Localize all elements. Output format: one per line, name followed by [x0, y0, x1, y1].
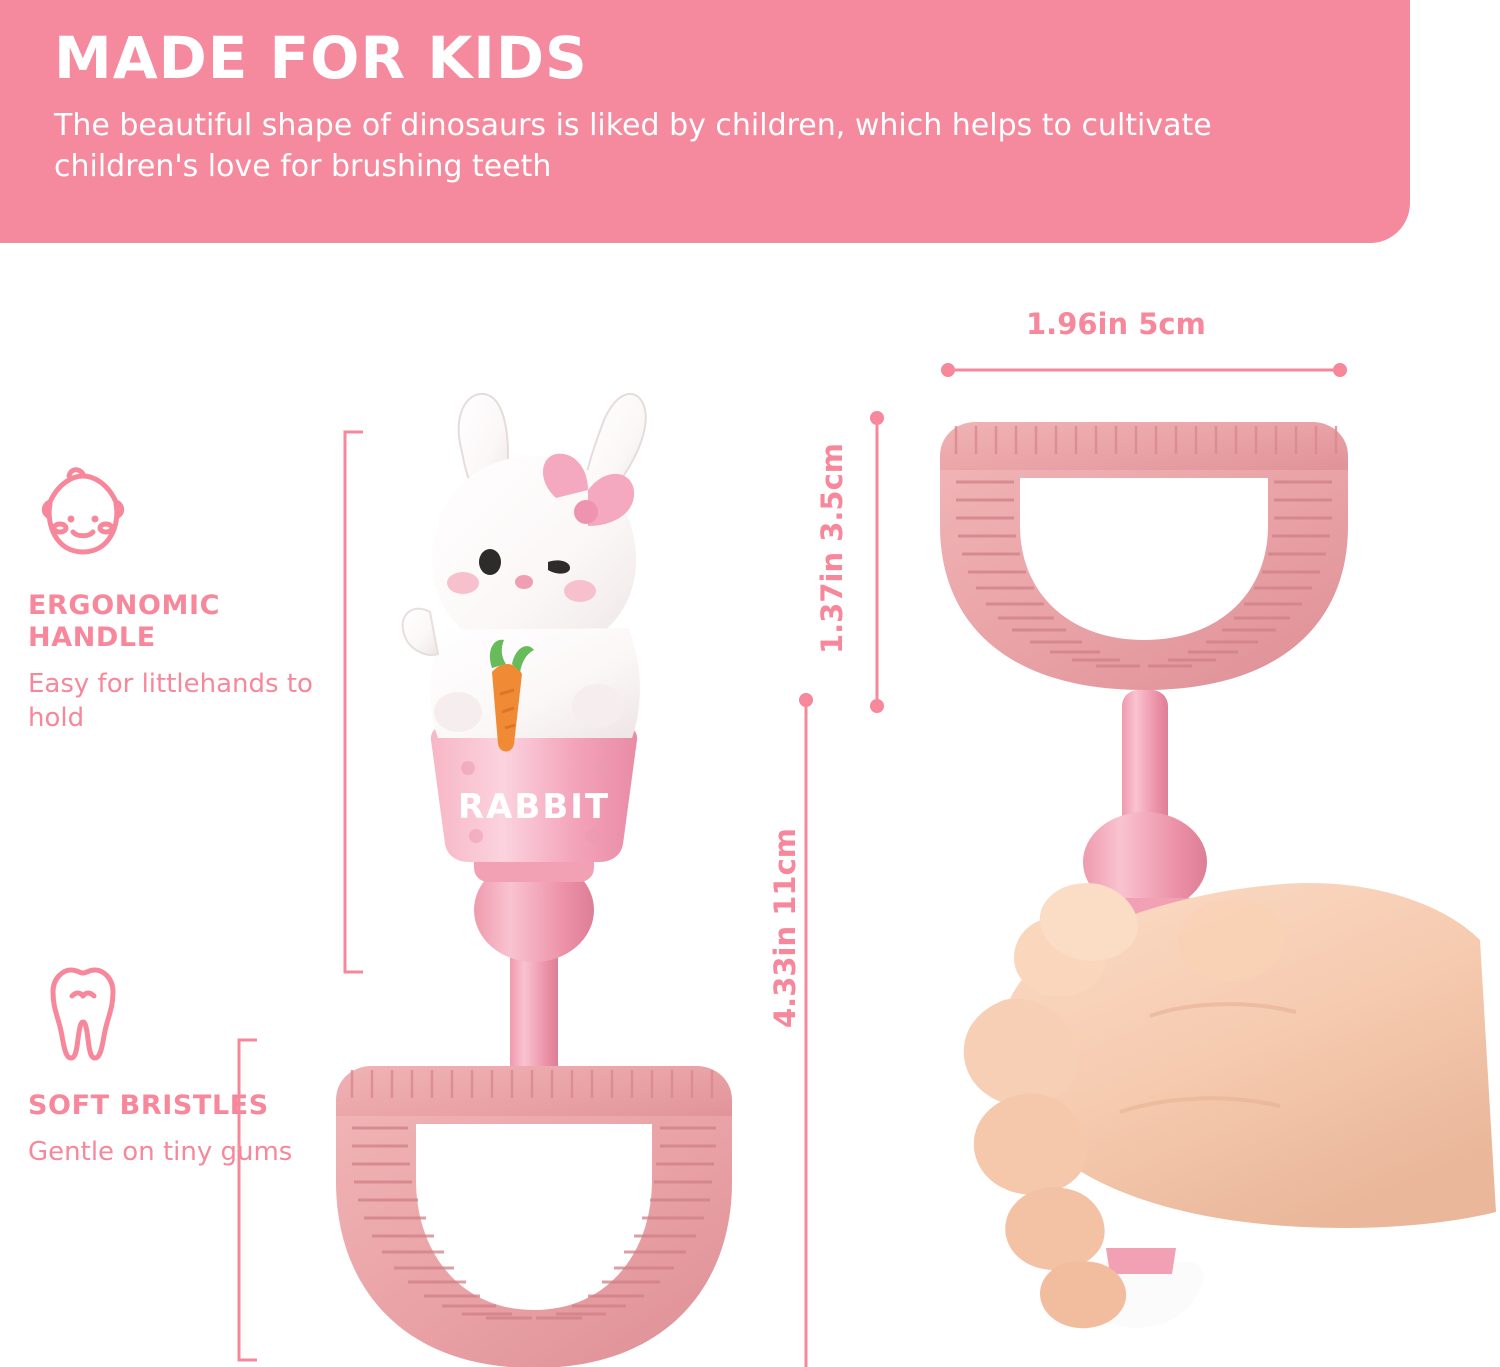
product-handle	[431, 726, 637, 862]
feature-title: ERGONOMIC HANDLE	[28, 590, 328, 654]
rabbit-foot-left	[1035, 1254, 1078, 1298]
rabbit-bow	[543, 454, 634, 526]
rabbit-lower-body	[1068, 1262, 1203, 1328]
rabbit-paw-left	[434, 692, 482, 732]
rabbit-foot-right	[1184, 1254, 1227, 1298]
silicone-u-head-left	[336, 1066, 732, 1367]
rabbit-cheek-right	[564, 580, 596, 602]
rabbit-arm-left	[403, 609, 438, 655]
silicone-u-head-right	[940, 422, 1348, 690]
feature-ergonomic-handle: ERGONOMIC HANDLE Easy for littlehands to…	[28, 462, 328, 735]
product-neck-ball	[474, 858, 594, 962]
handle-brand-text: RABBIT	[458, 787, 610, 827]
dimension-head-height-label: 1.37in 3.5cm	[815, 443, 849, 654]
product-neck-ball-right	[1083, 812, 1207, 912]
header-subtitle: The beautiful shape of dinosaurs is like…	[54, 105, 1344, 188]
rabbit-eye-left	[479, 549, 501, 575]
handle-dot	[469, 829, 483, 843]
product-left-full-view: RABBIT	[336, 394, 732, 1367]
feature-description: Easy for littlehands to hold	[28, 668, 328, 736]
rabbit-paw-right	[572, 684, 624, 728]
feature-soft-bristles: SOFT BRISTLES Gentle on tiny gums	[28, 962, 328, 1170]
feature-title: SOFT BRISTLES	[28, 1090, 328, 1122]
rabbit-nose	[515, 575, 533, 589]
header-banner: MADE FOR KIDS The beautiful shape of din…	[0, 0, 1410, 243]
product-collar-right	[1084, 898, 1208, 928]
product-stem-right	[1122, 690, 1168, 840]
product-stem	[510, 930, 558, 1090]
child-hand	[964, 883, 1496, 1328]
feature-description: Gentle on tiny gums	[28, 1136, 328, 1170]
handle-dot	[593, 761, 607, 775]
rabbit-body	[430, 628, 640, 738]
carrot-icon	[490, 640, 534, 752]
dimension-width-label: 1.96in 5cm	[1026, 307, 1206, 341]
rabbit-head	[432, 456, 636, 656]
rabbit-eye-right	[548, 560, 570, 573]
product-right-in-hand	[940, 422, 1496, 1328]
product-collar	[474, 846, 594, 882]
product-handle-right	[1062, 920, 1232, 1094]
rabbit-cheek-left	[447, 572, 479, 594]
rabbit-ear-right	[585, 394, 646, 502]
rabbit-ear-left	[459, 394, 508, 504]
baby-face-icon	[28, 462, 328, 572]
tooth-icon	[28, 962, 328, 1072]
handle-dot	[461, 761, 475, 775]
handle-bottom-band	[1106, 1248, 1176, 1274]
handle-dot	[585, 829, 599, 843]
dimension-total-length-label: 4.33in 11cm	[768, 828, 802, 1028]
page-title: MADE FOR KIDS	[54, 28, 1410, 89]
